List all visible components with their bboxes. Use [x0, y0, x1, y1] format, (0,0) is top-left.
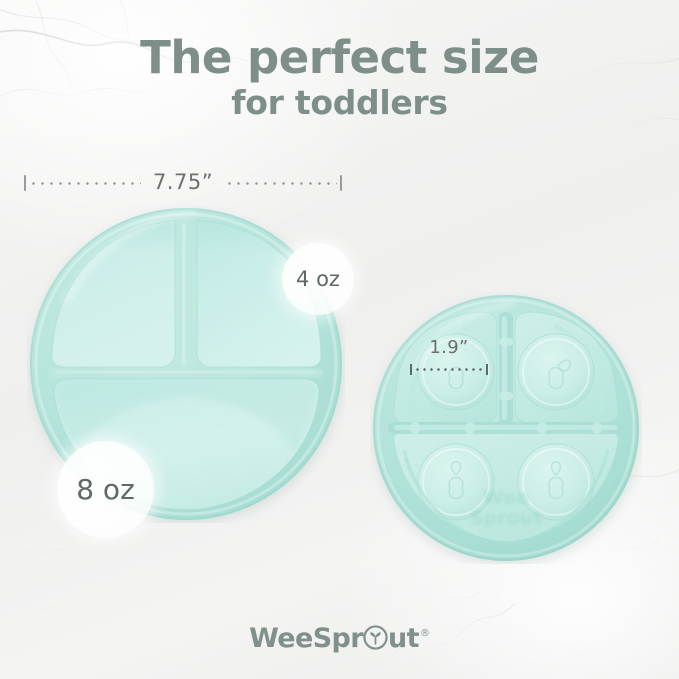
capacity-badge-4oz: 4 oz [282, 243, 354, 315]
svg-text:Wee: Wee [483, 487, 529, 509]
dimension-dots-left [29, 182, 141, 185]
divided-plate-back-view: Wee Sprout [370, 292, 642, 564]
heading-line-1: The perfect size [0, 34, 679, 82]
svg-text:Sprout: Sprout [470, 507, 542, 529]
brand-logo: WeeSpr ut ® [0, 622, 679, 652]
dimension-line-suction-cup [410, 363, 488, 375]
suction-cup-dimension: 1.9” [410, 337, 488, 379]
dimension-label-width: 7.75” [144, 170, 222, 194]
logo-text-part-1: WeeSpr [249, 625, 363, 652]
mini-dimension-dots [414, 368, 484, 371]
dimension-label-suction-cup: 1.9” [410, 337, 488, 358]
suction-cup-top-right [518, 334, 594, 410]
page-title: The perfect size for toddlers [0, 34, 679, 123]
mini-dimension-cap-right [486, 364, 488, 375]
infographic-canvas: The perfect size for toddlers 7.75” [0, 0, 679, 679]
registered-trademark-symbol: ® [420, 628, 430, 639]
logo-text-part-2: ut [388, 625, 419, 652]
dimension-dots-right [225, 182, 337, 185]
dimension-cap-left [24, 175, 26, 191]
sprout-icon [363, 625, 388, 655]
plate-width-dimension: 7.75” [24, 170, 342, 196]
dimension-cap-right [340, 175, 342, 191]
heading-line-2: for toddlers [0, 82, 679, 123]
mini-dimension-cap-left [410, 364, 412, 375]
capacity-badge-8oz: 8 oz [57, 441, 154, 538]
